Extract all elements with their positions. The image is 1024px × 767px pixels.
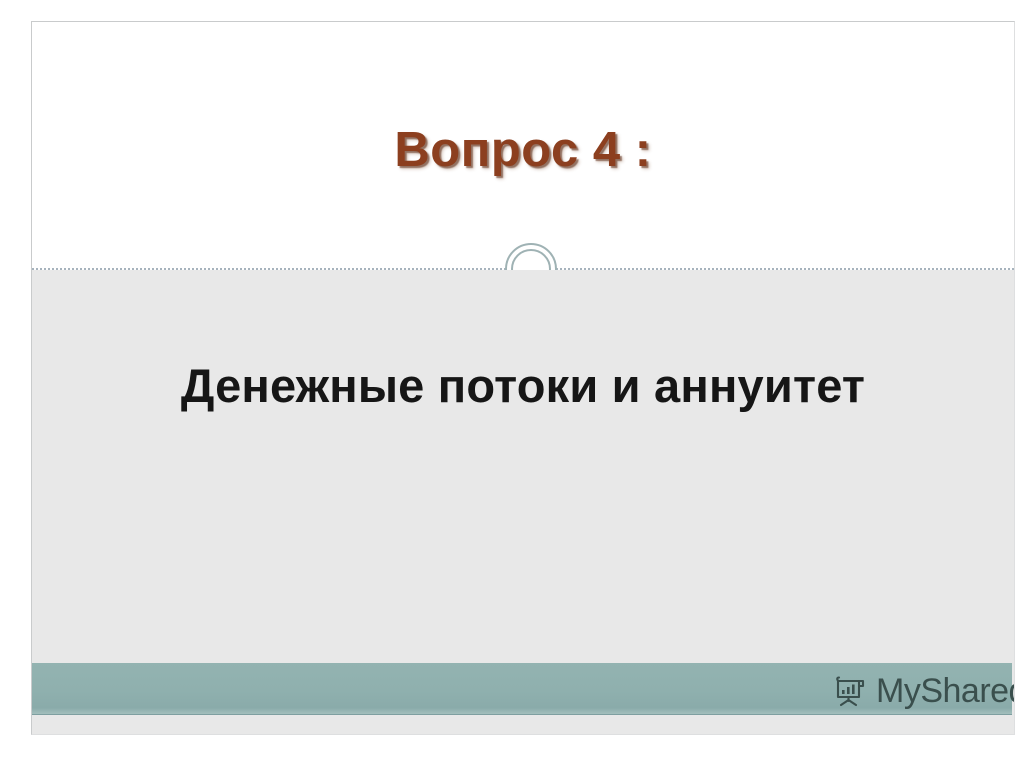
slide-subtitle: Денежные потоки и аннуитет bbox=[32, 358, 1014, 413]
page-title: Вопрос 4 : bbox=[32, 122, 1014, 178]
flipchart-bar-chart-icon bbox=[832, 672, 870, 710]
presentation-slide: Вопрос 4 : Денежные потоки и аннуитет bbox=[31, 21, 1015, 735]
watermark-logo: MyShared bbox=[832, 669, 1015, 713]
title-band: Вопрос 4 : bbox=[32, 22, 1014, 268]
watermark-brand-text: MyShared bbox=[876, 674, 1015, 708]
